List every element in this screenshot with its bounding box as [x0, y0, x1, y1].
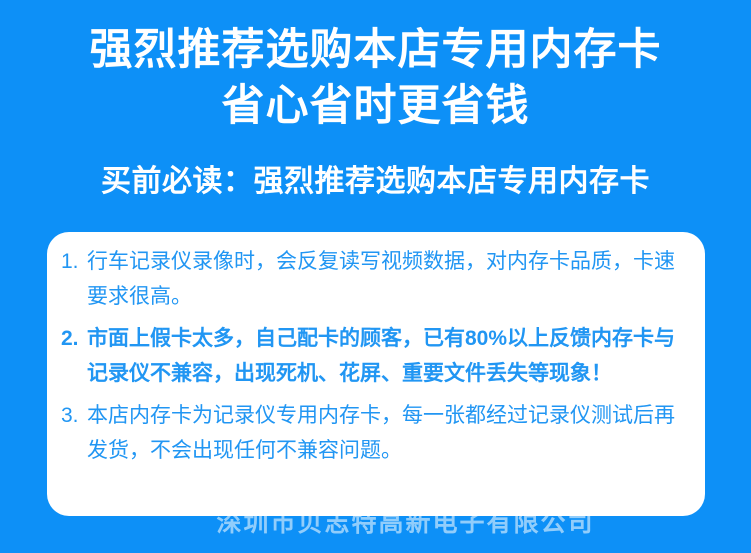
- list-item-marker: 1.: [61, 244, 79, 279]
- headline-line-1: 强烈推荐选购本店专用内存卡: [0, 22, 751, 78]
- headline-line-2: 省心省时更省钱: [0, 78, 751, 134]
- list-item-marker: 3.: [61, 398, 79, 433]
- list-item-text: 市面上假卡太多，自己配卡的顾客，已有80%以上反馈内存卡与记录仪不兼容，出现死机…: [87, 327, 675, 385]
- list-item-text: 行车记录仪录像时，会反复读写视频数据，对内存卡品质，卡速要求很高。: [87, 250, 675, 308]
- list-item: 2. 市面上假卡太多，自己配卡的顾客，已有80%以上反馈内存卡与记录仪不兼容，出…: [61, 321, 693, 391]
- list-item-text: 本店内存卡为记录仪专用内存卡，每一张都经过记录仪测试后再发货，不会出现任何不兼容…: [87, 404, 675, 462]
- info-panel: 1. 行车记录仪录像时，会反复读写视频数据，对内存卡品质，卡速要求很高。 2. …: [47, 232, 705, 516]
- list-item: 3. 本店内存卡为记录仪专用内存卡，每一张都经过记录仪测试后再发货，不会出现任何…: [61, 398, 693, 468]
- notice-list: 1. 行车记录仪录像时，会反复读写视频数据，对内存卡品质，卡速要求很高。 2. …: [61, 244, 693, 475]
- promotional-banner: 强烈推荐选购本店专用内存卡 省心省时更省钱 买前必读：强烈推荐选购本店专用内存卡…: [0, 0, 751, 553]
- list-item-marker: 2.: [61, 321, 79, 356]
- page-title: 强烈推荐选购本店专用内存卡 省心省时更省钱: [0, 22, 751, 134]
- list-item: 1. 行车记录仪录像时，会反复读写视频数据，对内存卡品质，卡速要求很高。: [61, 244, 693, 314]
- subtitle: 买前必读：强烈推荐选购本店专用内存卡: [0, 162, 751, 202]
